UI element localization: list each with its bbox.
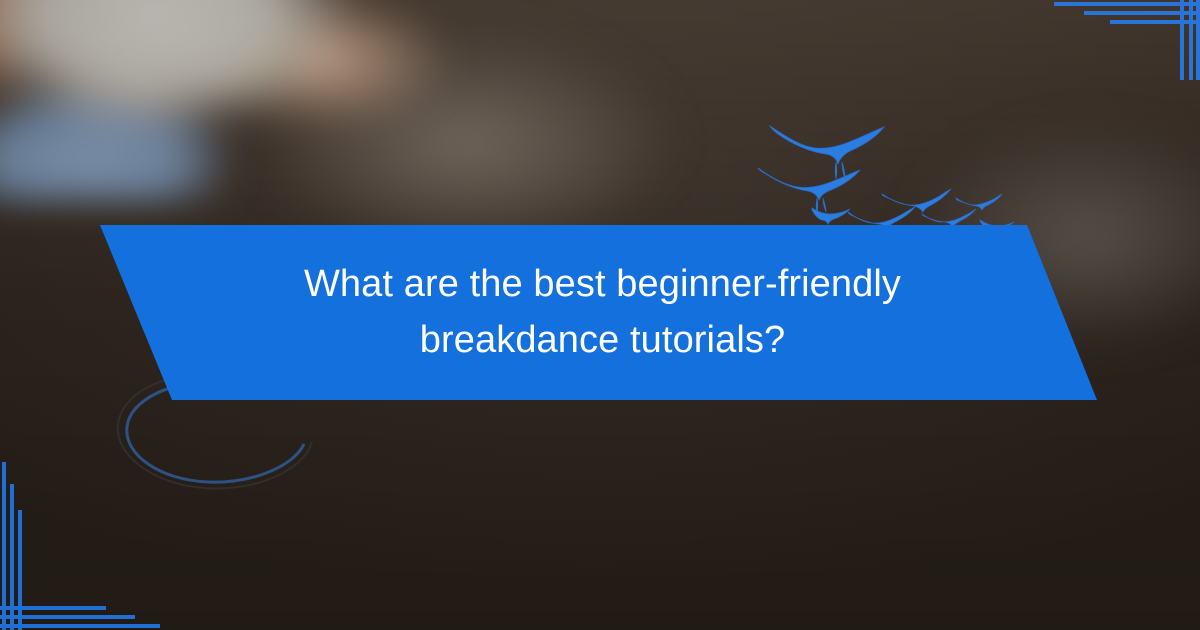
question-text: What are the best beginner-friendly brea…: [175, 225, 1030, 400]
question-banner: What are the best beginner-friendly brea…: [0, 225, 1200, 400]
poster-canvas: What are the best beginner-friendly brea…: [0, 0, 1200, 630]
